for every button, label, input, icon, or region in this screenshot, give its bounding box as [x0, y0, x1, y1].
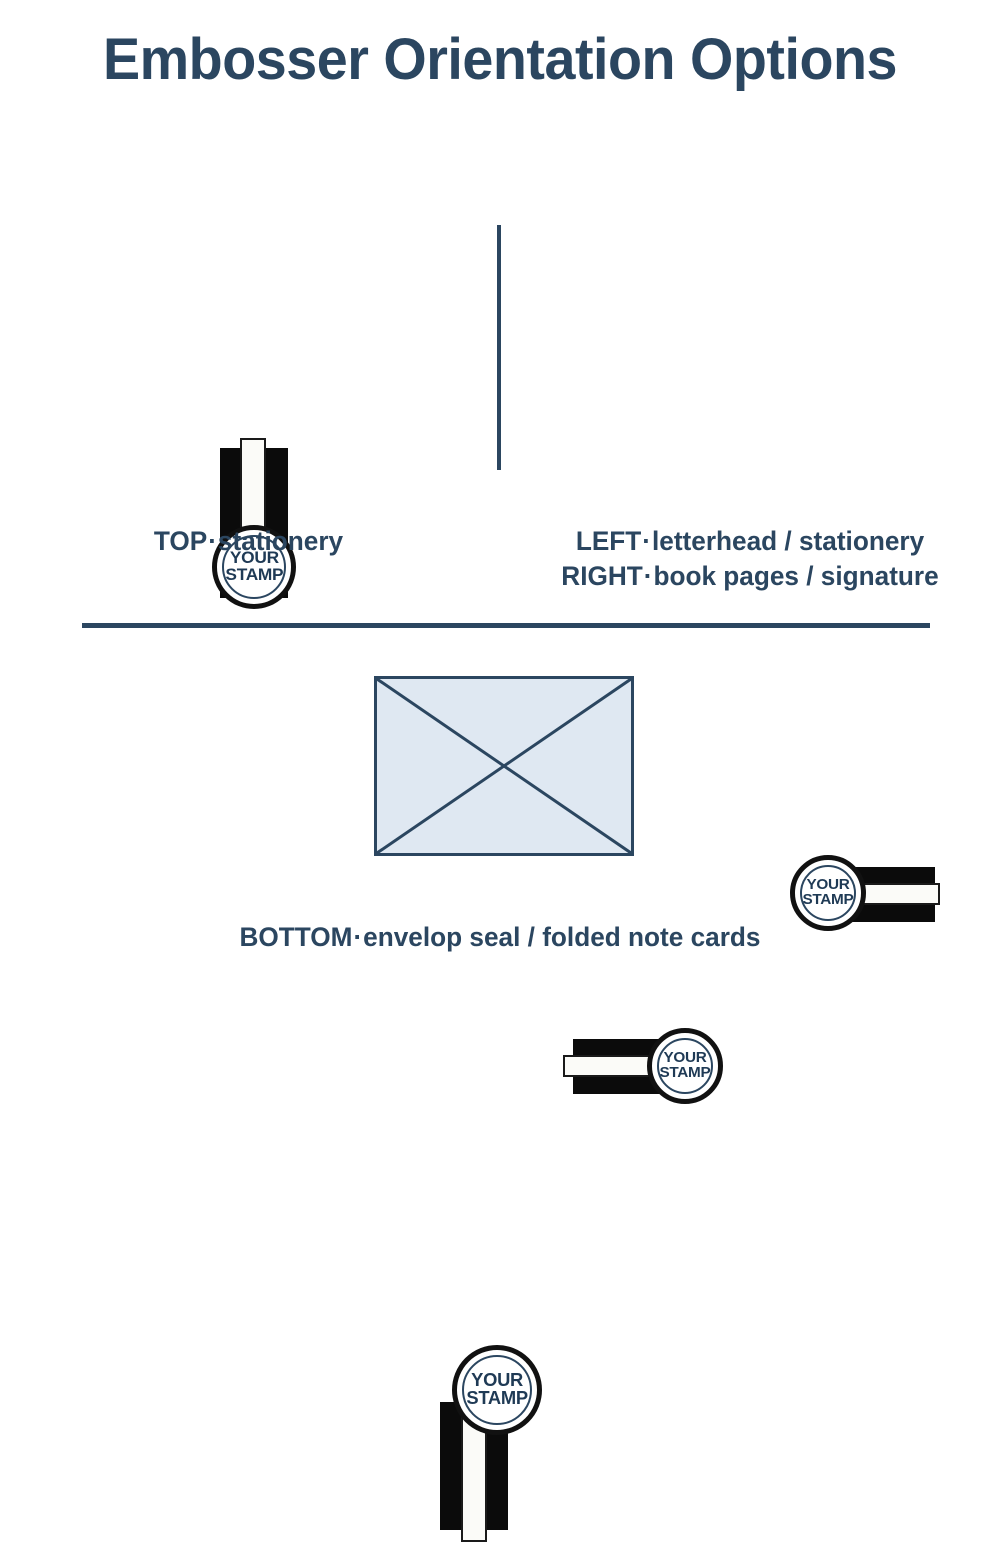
caption-separator-right: ·: [643, 561, 654, 591]
caption-uses-right: book pages / signature: [653, 561, 938, 591]
diagram-canvas: Embosser Orientation Options YOUR STAMP …: [0, 0, 1000, 1000]
seal-text-line2: STAMP: [225, 567, 283, 584]
seal-text: YOUR STAMP: [660, 1051, 711, 1080]
seal-text-line1: YOUR: [660, 1051, 711, 1066]
caption-separator-bottom: ·: [352, 922, 363, 952]
seal-text-line2: STAMP: [660, 1066, 711, 1081]
caption-line-right: RIGHT·book pages / signature: [508, 559, 993, 594]
caption-separator-top: ·: [207, 526, 218, 556]
caption-separator-left: ·: [641, 526, 652, 556]
caption-orientation-top: TOP: [154, 526, 207, 556]
embosser-seal-left: YOUR STAMP: [647, 1028, 723, 1104]
seal-text: YOUR STAMP: [803, 878, 854, 907]
panel-separator-vertical: [497, 225, 501, 470]
embosser-seal-bottom: YOUR STAMP: [452, 1345, 542, 1435]
envelope-bottom-panel: [374, 676, 634, 856]
caption-uses-left: letterhead / stationery: [652, 526, 924, 556]
seal-text: YOUR STAMP: [466, 1372, 527, 1407]
envelope-diagonals-icon: [377, 679, 631, 853]
caption-side-panel: LEFT·letterhead / stationery RIGHT·book …: [508, 524, 993, 593]
panel-separator-horizontal: [82, 623, 930, 628]
caption-line-left: LEFT·letterhead / stationery: [508, 524, 993, 559]
envelope-flap-lines: [377, 679, 631, 853]
caption-uses-bottom: envelop seal / folded note cards: [363, 922, 760, 952]
caption-orientation-left: LEFT: [576, 526, 641, 556]
paper-sheet-side-panel: [0, 315, 238, 627]
seal-text-line1: YOUR: [466, 1372, 527, 1390]
caption-orientation-right: RIGHT: [561, 561, 642, 591]
seal-text: YOUR STAMP: [225, 550, 283, 583]
seal-text-line2: STAMP: [803, 893, 854, 908]
seal-text-line2: STAMP: [466, 1390, 527, 1408]
page-title: Embosser Orientation Options: [20, 26, 980, 93]
caption-orientation-bottom: BOTTOM: [239, 922, 352, 952]
caption-bottom-panel: BOTTOM·envelop seal / folded note cards: [15, 920, 985, 955]
